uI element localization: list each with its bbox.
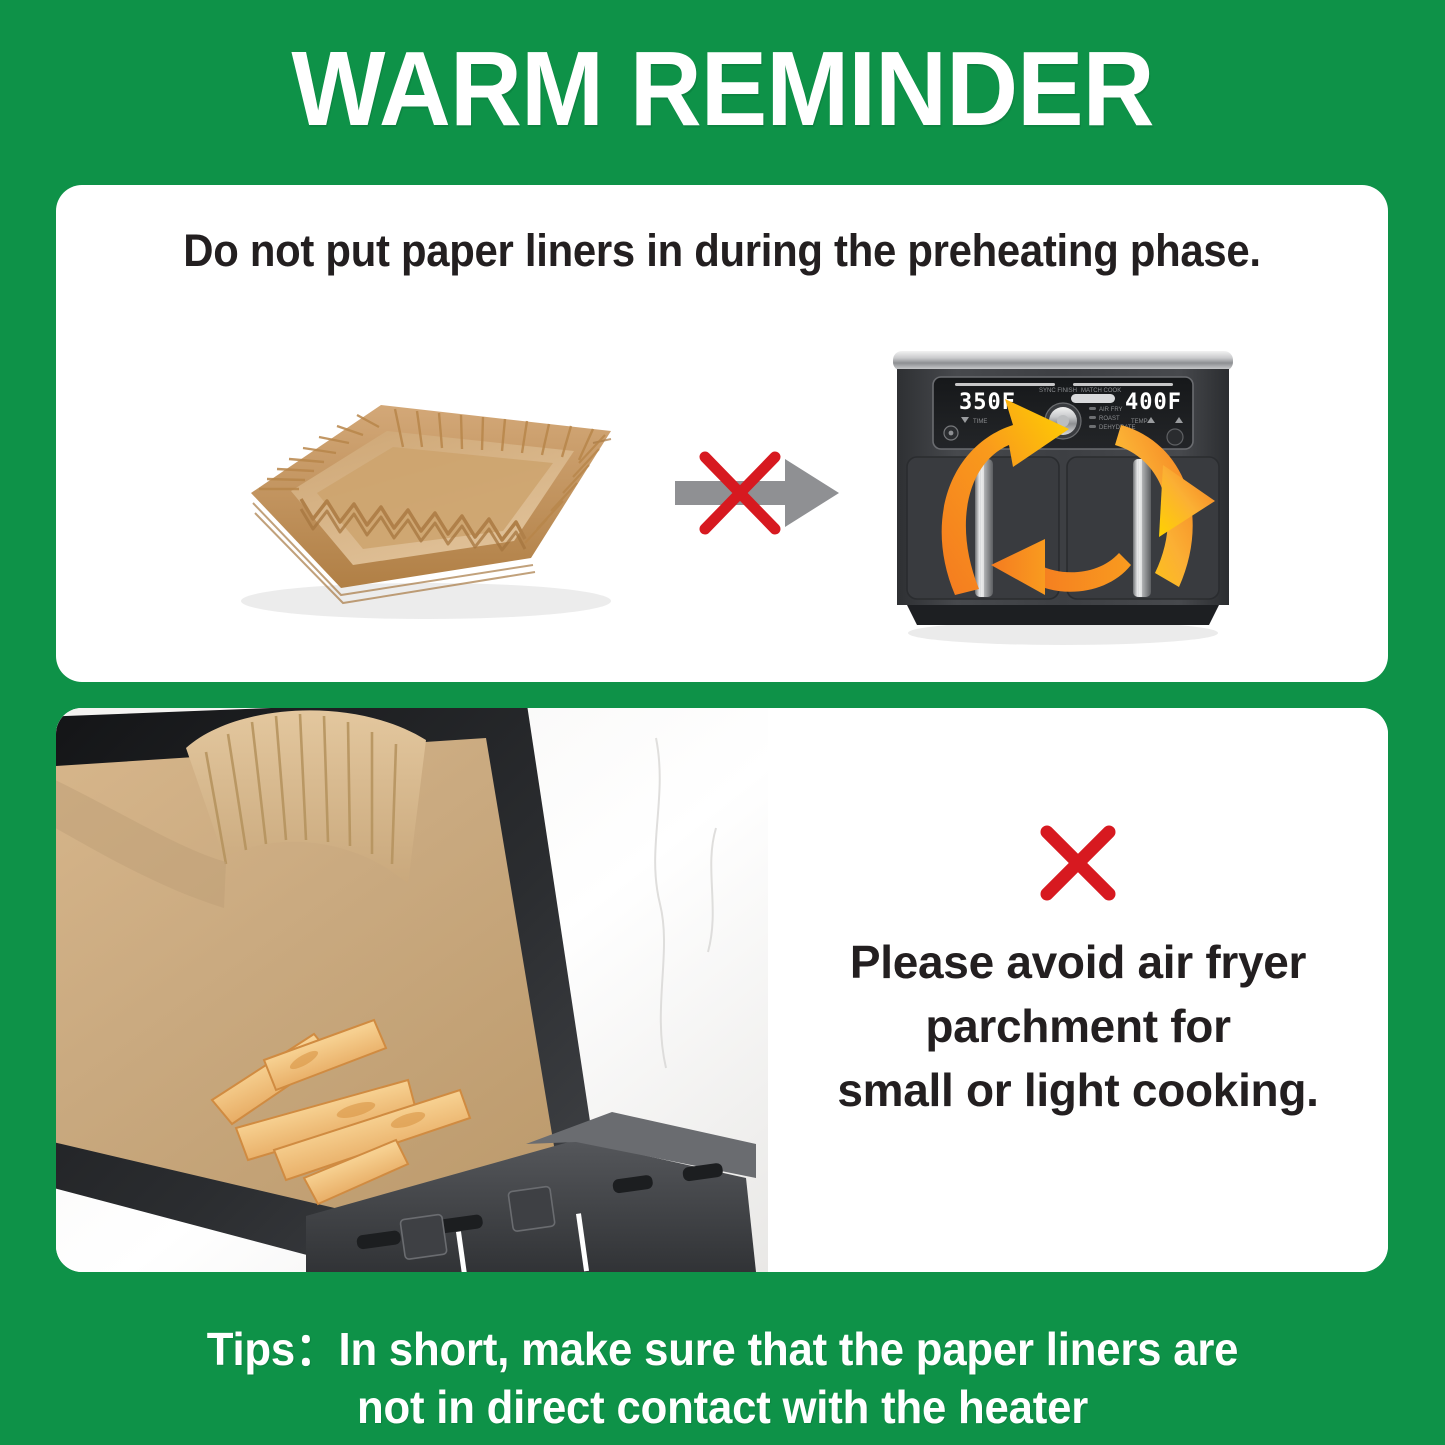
- svg-text:MATCH COOK: MATCH COOK: [1081, 388, 1121, 394]
- svg-text:TIME: TIME: [973, 419, 987, 425]
- card-preheating-heading: Do not put paper liners in during the pr…: [103, 225, 1342, 277]
- svg-text:SYNC FINISH: SYNC FINISH: [1039, 388, 1077, 394]
- air-fryer-image: 350F 400F TIME TEMP SYNC FINISH MATCH CO…: [863, 333, 1263, 653]
- avoid-line-2: parchment for: [768, 994, 1388, 1058]
- card-avoid-light-cooking: Please avoid air fryer parchment for sma…: [56, 708, 1388, 1272]
- svg-text:400F: 400F: [1125, 390, 1182, 415]
- avoid-text-block: Please avoid air fryer parchment for sma…: [768, 930, 1388, 1122]
- card-preheating: Do not put paper liners in during the pr…: [56, 185, 1388, 682]
- tips-line-1: Tips：In short, make sure that the paper …: [36, 1320, 1409, 1378]
- preheating-figure-row: 350F 400F TIME TEMP SYNC FINISH MATCH CO…: [56, 313, 1388, 673]
- red-x-icon: [1033, 818, 1123, 908]
- avoid-text-pane: Please avoid air fryer parchment for sma…: [768, 708, 1388, 1272]
- tips-footer: Tips：In short, make sure that the paper …: [36, 1320, 1409, 1436]
- avoid-line-1: Please avoid air fryer: [768, 930, 1388, 994]
- paper-liner-stack-image: [181, 343, 651, 643]
- avoid-line-3: small or light cooking.: [768, 1058, 1388, 1122]
- svg-text:AIR FRY: AIR FRY: [1099, 407, 1123, 413]
- page-title: WARM REMINDER: [43, 34, 1401, 144]
- tips-line-2: not in direct contact with the heater: [36, 1378, 1409, 1436]
- svg-text:ROAST: ROAST: [1099, 416, 1120, 422]
- blocked-arrow-icon: [657, 423, 857, 563]
- air-fryer-basket-photo: [56, 708, 768, 1272]
